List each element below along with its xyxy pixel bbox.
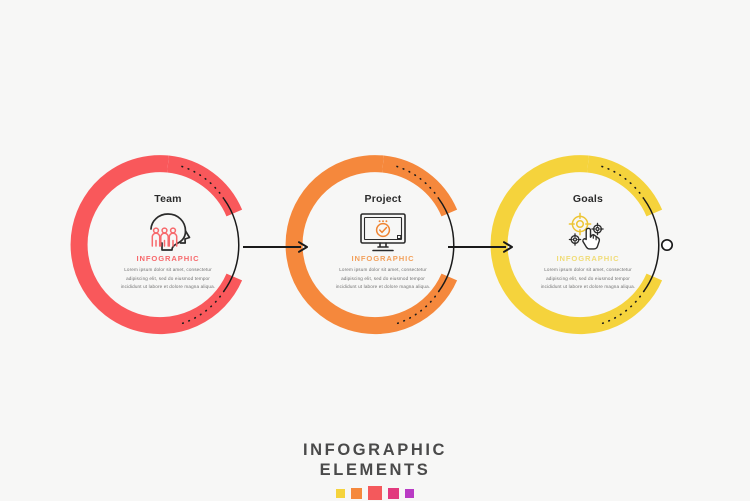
step-content-project: Project INFOGRAPHIC Lorem ips — [315, 177, 451, 313]
step-body-goals: Lorem ipsum dolor sit amet, consectetur … — [536, 266, 640, 291]
step-content-team: Team INFOGRAPHIC — [100, 177, 236, 313]
step-project[interactable]: Project INFOGRAPHIC Lorem ips — [293, 155, 473, 335]
connector-2 — [448, 240, 516, 252]
step-body-team: Lorem ipsum dolor sit amet, consectetur … — [116, 266, 220, 291]
monitor-check-icon — [356, 210, 410, 254]
footer-swatches — [0, 485, 750, 501]
arrow-right-icon — [448, 241, 516, 253]
head-people-icon — [142, 210, 194, 254]
footer-title-line1: INFOGRAPHIC — [0, 440, 750, 460]
footer-swatch-5 — [405, 489, 414, 498]
step-label-team: INFOGRAPHIC — [136, 255, 199, 263]
infographic-canvas: Team INFOGRAPHIC — [0, 0, 750, 500]
connector-1 — [243, 240, 311, 252]
step-label-goals: INFOGRAPHIC — [556, 255, 619, 263]
step-title-project: Project — [365, 194, 402, 205]
step-body-project: Lorem ipsum dolor sit amet, consectetur … — [331, 266, 435, 291]
footer-swatch-1 — [336, 489, 345, 498]
footer-swatch-4 — [388, 488, 399, 499]
footer-swatch-3 — [368, 486, 382, 500]
step-title-team: Team — [154, 194, 181, 205]
circle-node-icon — [662, 240, 672, 250]
step-title-goals: Goals — [573, 194, 603, 205]
footer: INFOGRAPHIC ELEMENTS — [0, 440, 750, 501]
target-cursor-icon — [561, 210, 615, 254]
step-goals[interactable]: Goals — [498, 155, 678, 335]
arrow-right-icon — [243, 241, 311, 253]
footer-title-line2: ELEMENTS — [0, 460, 750, 480]
step-team[interactable]: Team INFOGRAPHIC — [78, 155, 258, 335]
step-label-project: INFOGRAPHIC — [351, 255, 414, 263]
step-content-goals: Goals — [520, 177, 656, 313]
footer-swatch-2 — [351, 488, 362, 499]
